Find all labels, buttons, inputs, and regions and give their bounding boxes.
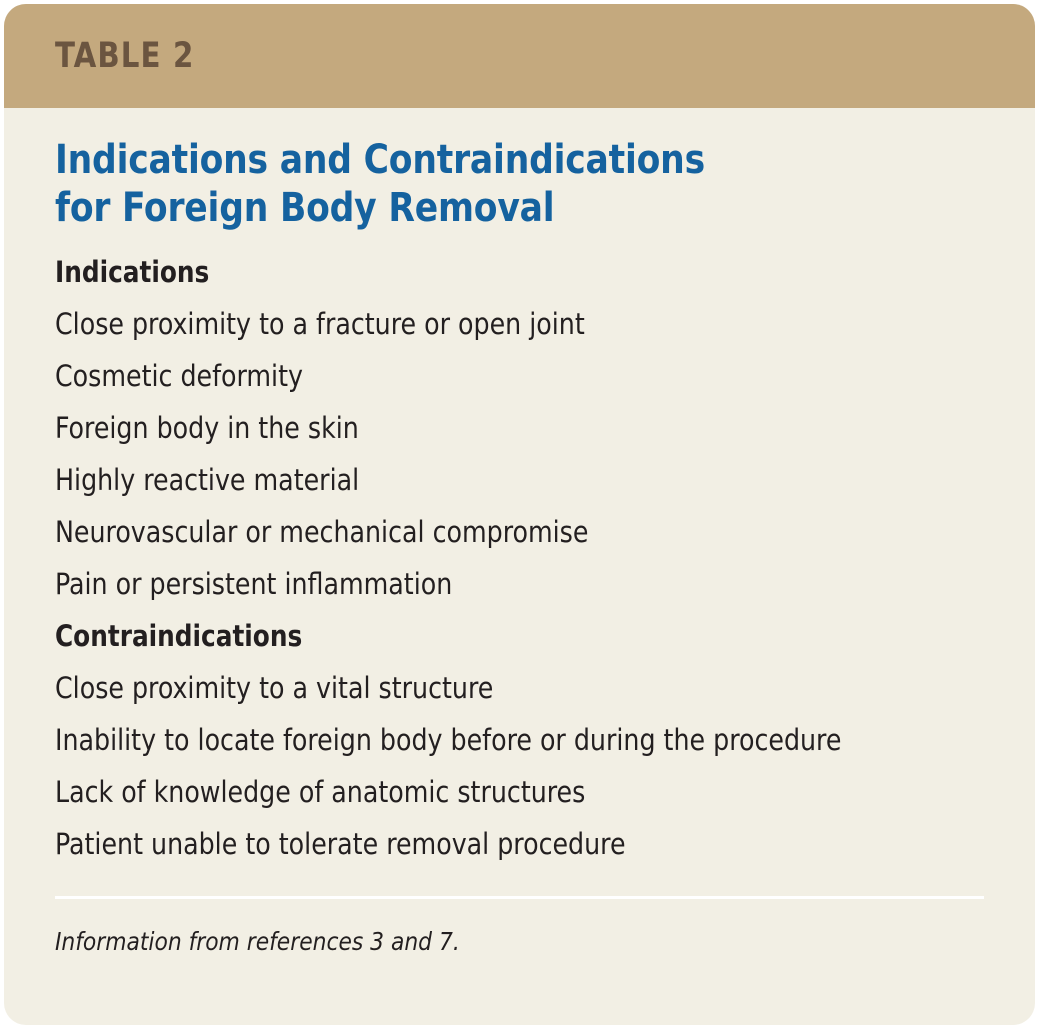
list-item: Inability to locate foreign body before … xyxy=(55,714,865,766)
table-number-label: TABLE 2 xyxy=(55,36,194,76)
table-title: Indications and Contraindications for Fo… xyxy=(55,136,947,232)
section-heading-contraindications: Contraindications xyxy=(55,610,938,662)
list-item: Cosmetic deformity xyxy=(55,350,865,402)
table-title-line-2: for Foreign Body Removal xyxy=(55,184,947,232)
table-header: TABLE 2 xyxy=(4,4,1035,108)
list-item: Close proximity to a fracture or open jo… xyxy=(55,298,865,350)
list-item: Pain or persistent inflammation xyxy=(55,558,865,610)
list-item: Lack of knowledge of anatomic structures xyxy=(55,766,865,818)
list-item: Patient unable to tolerate removal proce… xyxy=(55,818,865,870)
table-footnote: Information from references 3 and 7. xyxy=(55,927,956,957)
list-item: Highly reactive material xyxy=(55,454,865,506)
list-item: Close proximity to a vital structure xyxy=(55,662,865,714)
list-item: Neurovascular or mechanical compromise xyxy=(55,506,865,558)
table-body: Indications and Contraindications for Fo… xyxy=(4,136,1035,957)
list-item: Foreign body in the skin xyxy=(55,402,865,454)
section-heading-indications: Indications xyxy=(55,246,938,298)
table-title-line-1: Indications and Contraindications xyxy=(55,136,947,184)
table-card: TABLE 2 Indications and Contraindication… xyxy=(4,4,1035,1025)
footer-divider xyxy=(55,896,984,899)
